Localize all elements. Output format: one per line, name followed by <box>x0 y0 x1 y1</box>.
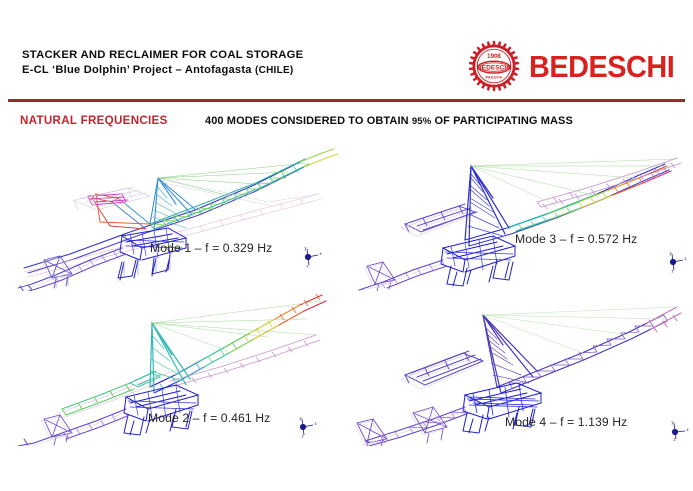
figure-caption-mode-4: Mode 4 – f = 1.139 Hz <box>505 415 627 429</box>
axis-label-x: x <box>687 427 690 432</box>
emblem-city: PADOVA <box>485 75 502 79</box>
axis-label-z: z <box>307 264 309 269</box>
section-note-suffix: OF PARTICIPATING MASS <box>431 115 573 127</box>
figure-caption-mode-2: Mode 2 – f = 0.461 Hz <box>148 411 270 425</box>
section-header: NATURAL FREQUENCIES 400 MODES CONSIDERED… <box>0 114 693 136</box>
axis-label-x: x <box>315 421 318 426</box>
header-divider <box>8 99 685 102</box>
fea-mode-shape-3-image <box>347 136 693 291</box>
fea-mode-shape-1-image <box>0 136 346 291</box>
figure-caption-mode-1: Mode 1 – f = 0.329 Hz <box>150 241 272 255</box>
page-subtitle-main: E-CL ‘Blue Dolphin’ Project – Antofagast… <box>22 64 255 76</box>
brand-logo: 1908 BEDESCHI PADOVA BEDESCHI <box>466 38 685 94</box>
emblem-name: BEDESCHI <box>477 65 511 72</box>
section-note-percent: 95% <box>412 116 432 127</box>
section-note-prefix: 400 MODES CONSIDERED TO OBTAIN <box>205 115 412 127</box>
section-note: 400 MODES CONSIDERED TO OBTAIN 95% OF PA… <box>205 115 573 127</box>
axis-label-x: x <box>685 256 688 261</box>
page-subtitle-country: (CHILE) <box>255 65 293 76</box>
axis-label-z: z <box>672 269 674 274</box>
figure-mode-1: Mode 1 – f = 0.329 Hz x y z <box>0 136 346 291</box>
axis-triad-icon-mode-4: x y z <box>667 419 693 441</box>
figure-mode-2: Mode 2 – f = 0.461 Hz x y z <box>0 291 346 446</box>
bedeschi-gear-emblem-icon: 1908 BEDESCHI PADOVA <box>466 38 522 94</box>
axis-label-x: x <box>320 251 323 256</box>
axis-label-z: z <box>674 437 676 441</box>
mode-shape-figure-grid: Mode 1 – f = 0.329 Hz x y z <box>0 136 693 446</box>
section-title: NATURAL FREQUENCIES <box>20 114 168 127</box>
slide-header: STACKER AND RECLAIMER FOR COAL STORAGE E… <box>0 0 693 102</box>
figure-caption-mode-3: Mode 3 – f = 0.572 Hz <box>515 232 637 246</box>
brand-wordmark: BEDESCHI <box>529 51 674 82</box>
header-title-block: STACKER AND RECLAIMER FOR COAL STORAGE E… <box>22 48 303 78</box>
axis-label-z: z <box>302 434 304 439</box>
figure-mode-3: Mode 3 – f = 0.572 Hz x y z <box>347 136 693 291</box>
page-subtitle: E-CL ‘Blue Dolphin’ Project – Antofagast… <box>22 63 303 78</box>
page-title: STACKER AND RECLAIMER FOR COAL STORAGE <box>22 48 303 63</box>
emblem-year: 1908 <box>487 53 501 60</box>
figure-mode-4: Mode 4 – f = 1.139 Hz x y z <box>347 291 693 446</box>
axis-triad-icon-mode-2: x y z <box>295 416 321 438</box>
axis-triad-icon-mode-1: x y z <box>300 246 326 268</box>
axis-triad-icon-mode-3: x y z <box>665 251 691 273</box>
